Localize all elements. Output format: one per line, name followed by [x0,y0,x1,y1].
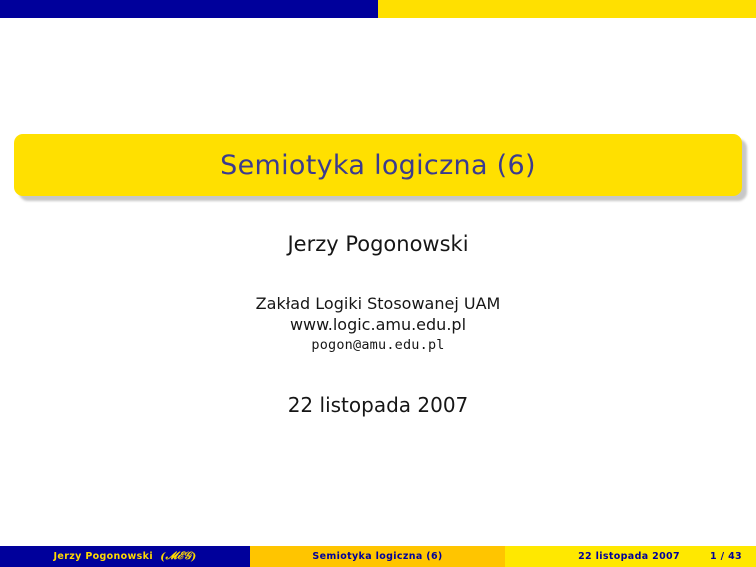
footer-title-segment: Semiotyka logiczna (6) [250,546,505,567]
footer-bar: Jerzy Pogonowski ( 𝓜ℰ𝒢 ) Semiotyka logic… [0,546,756,567]
footer-author-group: 𝓜ℰ𝒢 [165,550,191,563]
top-bar-yellow-segment [378,0,756,18]
title-page-content: Jerzy Pogonowski Zakład Logiki Stosowane… [0,232,756,417]
footer-author-group-close: ) [191,551,196,563]
title-block: Semiotyka logiczna (6) [14,134,742,196]
footer-author-name: Jerzy Pogonowski [54,551,153,562]
title-box: Semiotyka logiczna (6) [14,134,742,196]
footer-meta-segment: 22 listopada 2007 1 / 43 [505,546,756,567]
footer-title-text: Semiotyka logiczna (6) [312,551,442,562]
footer-date: 22 listopada 2007 [578,551,680,562]
institute-block: Zakład Logiki Stosowanej UAM www.logic.a… [0,293,756,355]
top-decoration-bar [0,0,756,18]
top-bar-navy-segment [0,0,378,18]
footer-page-number: 1 / 43 [710,551,742,562]
institute-website: www.logic.amu.edu.pl [0,314,756,335]
author-name: Jerzy Pogonowski [0,232,756,257]
institute-email: pogon@amu.edu.pl [0,337,756,355]
page-title: Semiotyka logiczna (6) [220,152,536,179]
footer-author-segment: Jerzy Pogonowski ( 𝓜ℰ𝒢 ) [0,546,250,567]
institute-department: Zakład Logiki Stosowanej UAM [0,293,756,314]
presentation-date: 22 listopada 2007 [0,393,756,417]
